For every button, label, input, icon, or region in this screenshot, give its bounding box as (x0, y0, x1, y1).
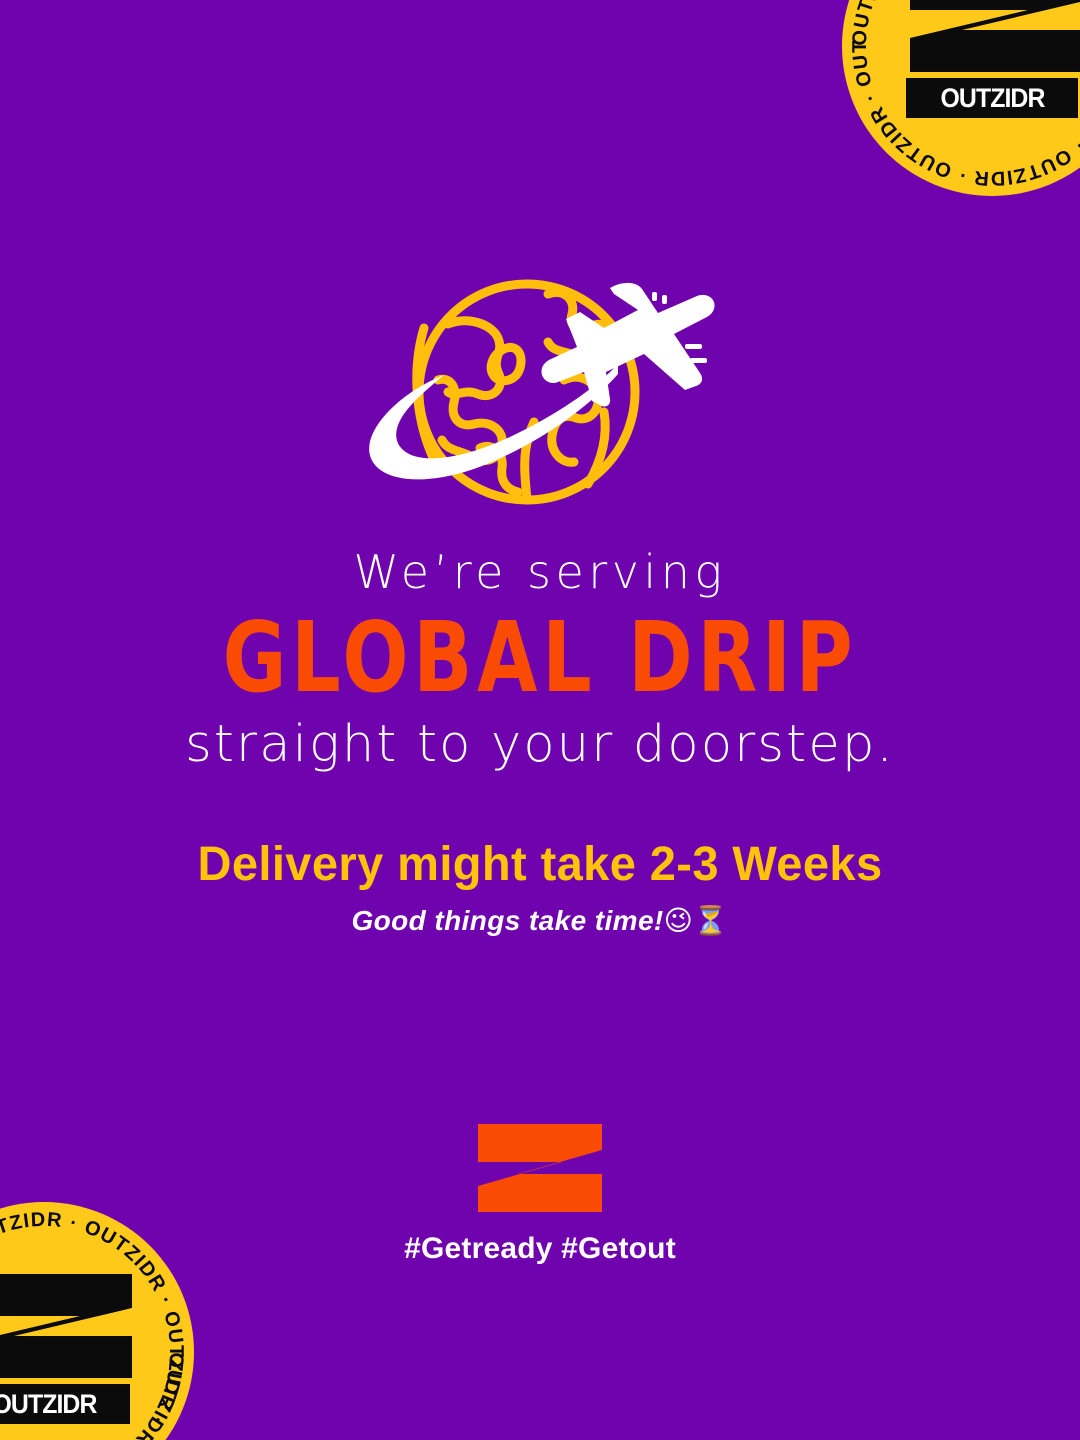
eyebrow-text: We’re serving (0, 548, 1080, 596)
badge-emblem-bottom-left: OUTZIDR (0, 1274, 132, 1424)
hourglass-emoji-icon: ⏳ (693, 904, 728, 937)
subhead-text: straight to your doorstep. (0, 717, 1080, 773)
copy-block: We’re serving GLOBAL DRIP straight to yo… (0, 548, 1080, 937)
brand-badge-top-right: OUTZIDR · OUTZIDR · OUTZIDR · OUTZIDR · … (842, 0, 1080, 196)
z-mark-icon (0, 1274, 132, 1378)
wink-emoji-icon: 😉 (664, 904, 694, 937)
footer-block: #Getready #Getout (0, 1124, 1080, 1266)
badge-wordmark-bar: OUTZIDR (906, 78, 1078, 118)
reassurance-line: Good things take time!😉⏳ (0, 904, 1080, 937)
hashtags-text: #Getready #Getout (0, 1232, 1080, 1266)
badge-wordmark-text: OUTZIDR (940, 83, 1044, 114)
badge-emblem-top-right: OUTZIDR (904, 0, 1080, 118)
badge-wordmark-text: OUTZIDR (0, 1389, 96, 1420)
delivery-note-text: Delivery might take 2-3 Weeks (11, 837, 1069, 892)
badge-wordmark-bar: OUTZIDR (0, 1384, 130, 1424)
globe-airplane-illustration (352, 272, 728, 520)
reassurance-text: Good things take time! (351, 905, 663, 936)
headline-text: GLOBAL DRIP (32, 603, 1047, 712)
poster-canvas: OUTZIDR · OUTZIDR · OUTZIDR · OUTZIDR · … (0, 0, 1080, 1440)
brand-z-logo-icon (478, 1124, 602, 1212)
z-mark-icon (904, 0, 1080, 72)
